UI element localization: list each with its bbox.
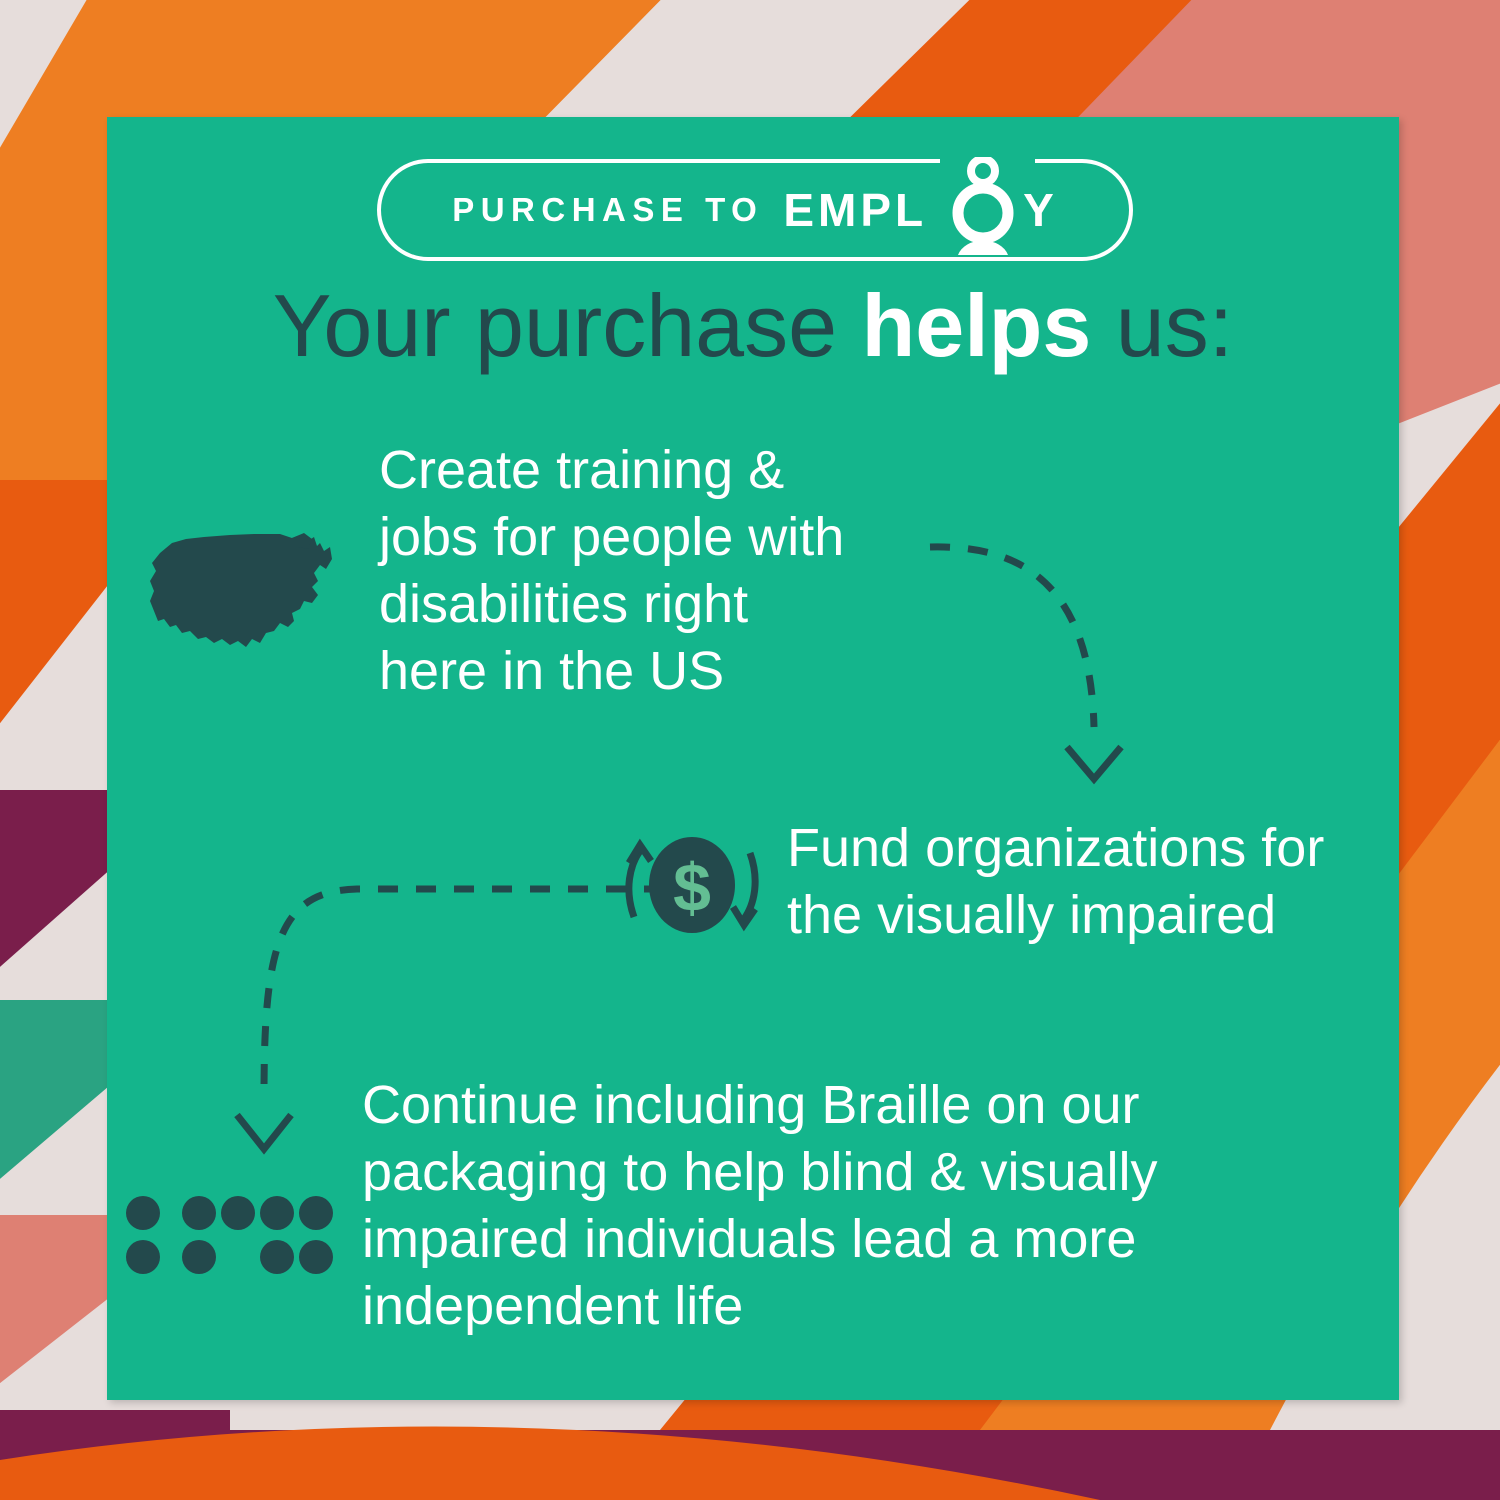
braille-dot-c2-top [182,1196,216,1230]
purchase-to-employ-logo: PURCHASE TO EMPL Y [375,157,1135,263]
us-map-icon [142,521,342,656]
braille-dot-c4-top [260,1196,294,1230]
braille-dot-c5-top [299,1196,333,1230]
main-green-panel: PURCHASE TO EMPL Y Your purchase helps u… [107,117,1399,1400]
badge-outline [375,157,1135,263]
person-body-icon [958,188,1008,238]
braille-dot-c1-bottom [126,1240,160,1274]
braille-dot-c1-top [126,1196,160,1230]
arrow-1-head-icon [1067,747,1121,779]
arrow-1-dashed-path [930,547,1094,727]
infographic-canvas: PURCHASE TO EMPL Y Your purchase helps u… [0,0,1500,1500]
row-1-text: Create training & jobs for people with d… [379,437,999,705]
row-2-text: Fund organizations for the visually impa… [787,815,1387,949]
person-base-icon [958,240,1008,255]
badge-border [379,161,1131,259]
dashed-arrow-down-right [922,517,1152,817]
braille-dot-c4-bottom [260,1240,294,1274]
arrow-2-dashed-path [264,889,664,1095]
braille-dots-icon [125,1195,335,1275]
person-head-icon [971,159,995,183]
headline-emphasis: helps [862,276,1092,375]
row-3-text: Continue including Braille on our packag… [362,1072,1372,1340]
headline-part-2: us: [1091,276,1233,375]
headline-part-1: Your purchase [273,276,862,375]
dollar-sign-glyph: $ [673,850,711,926]
arrow-2-head-icon [237,1115,291,1149]
page-title: Your purchase helps us: [107,282,1399,370]
braille-dot-c3-top [221,1196,255,1230]
braille-dot-c2-bottom [182,1240,216,1274]
braille-dot-c5-bottom [299,1240,333,1274]
